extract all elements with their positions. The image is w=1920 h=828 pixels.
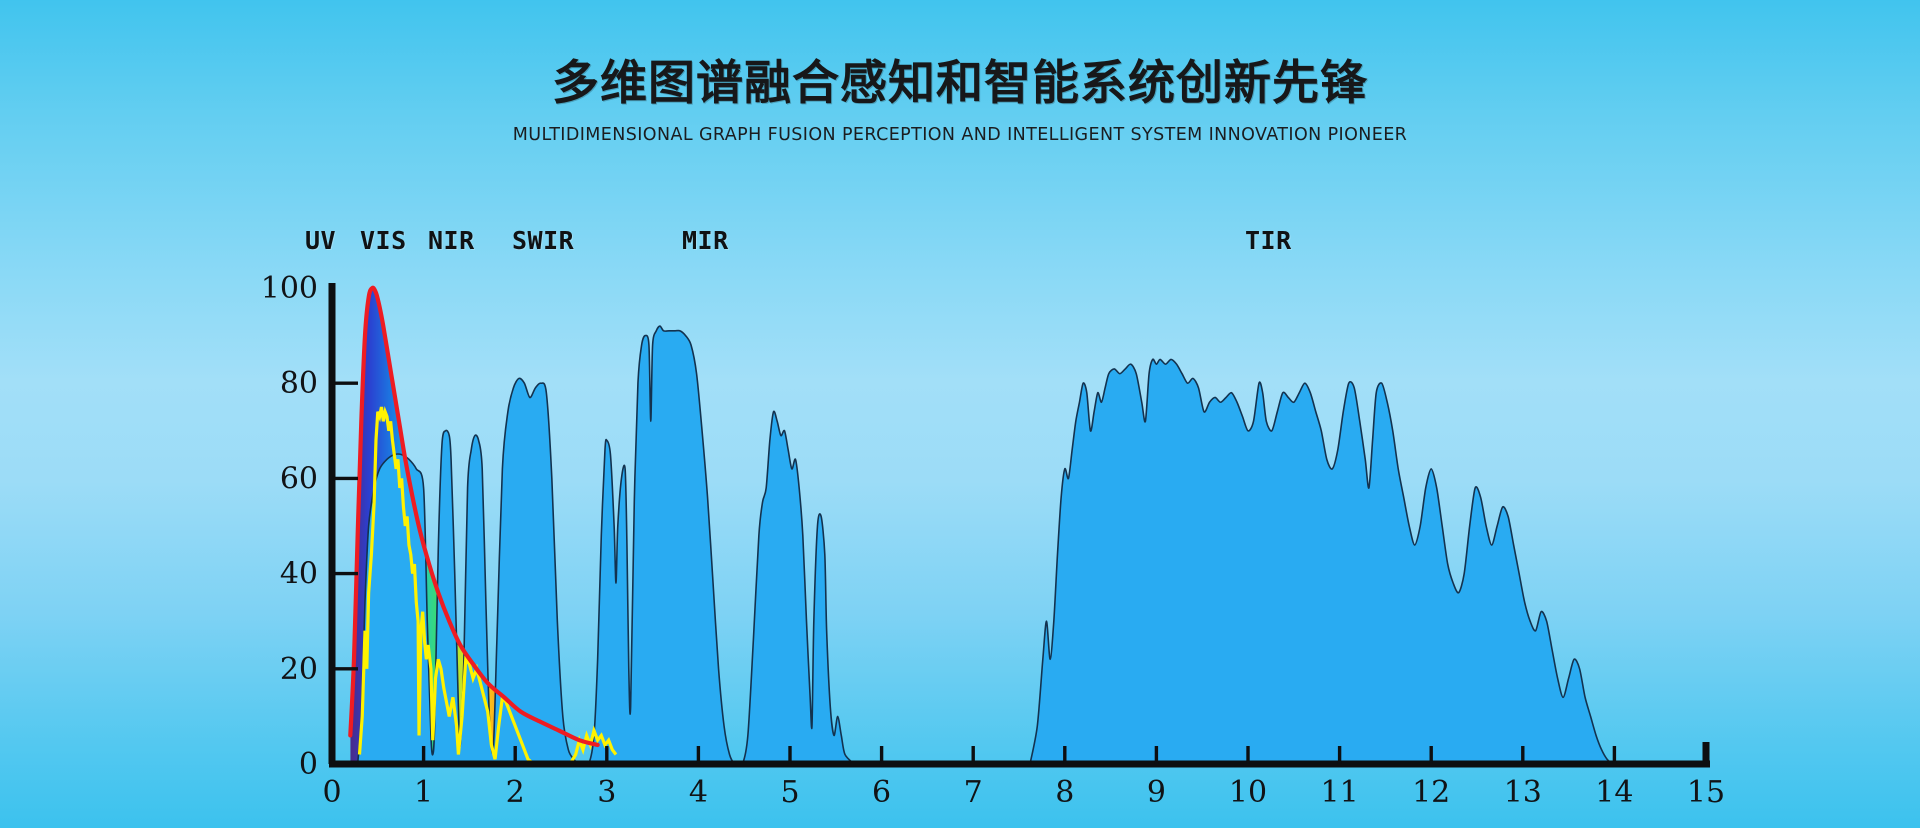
x-tick-label: 14	[1595, 775, 1633, 810]
x-tick-label: 11	[1321, 775, 1359, 810]
x-tick-label: 0	[322, 775, 341, 810]
x-tick-label: 8	[1055, 775, 1074, 810]
y-tick-label: 60	[280, 461, 318, 496]
x-tick-label: 10	[1229, 775, 1267, 810]
x-tick-label: 4	[689, 775, 708, 810]
x-tick-label: 3	[597, 775, 616, 810]
x-tick-label: 7	[964, 775, 983, 810]
x-tick-label: 15	[1687, 775, 1725, 810]
x-tick-label: 12	[1412, 775, 1450, 810]
y-tick-label: 100	[261, 271, 318, 306]
y-tick-label: 20	[280, 652, 318, 687]
y-tick-label: 0	[299, 747, 318, 782]
y-tick-label: 80	[280, 366, 318, 401]
x-tick-label: 13	[1504, 775, 1542, 810]
poster-canvas: 多维图谱融合感知和智能系统创新先锋 MULTIDIMENSIONAL GRAPH…	[0, 0, 1920, 828]
x-tick-label: 6	[872, 775, 891, 810]
x-tick-label: 9	[1147, 775, 1166, 810]
x-tick-label: 2	[506, 775, 525, 810]
spectrum-chart: 0204060801000123456789101112131415	[0, 0, 1920, 828]
y-tick-label: 40	[280, 557, 318, 592]
x-tick-label: 1	[414, 775, 433, 810]
x-tick-label: 5	[780, 775, 799, 810]
